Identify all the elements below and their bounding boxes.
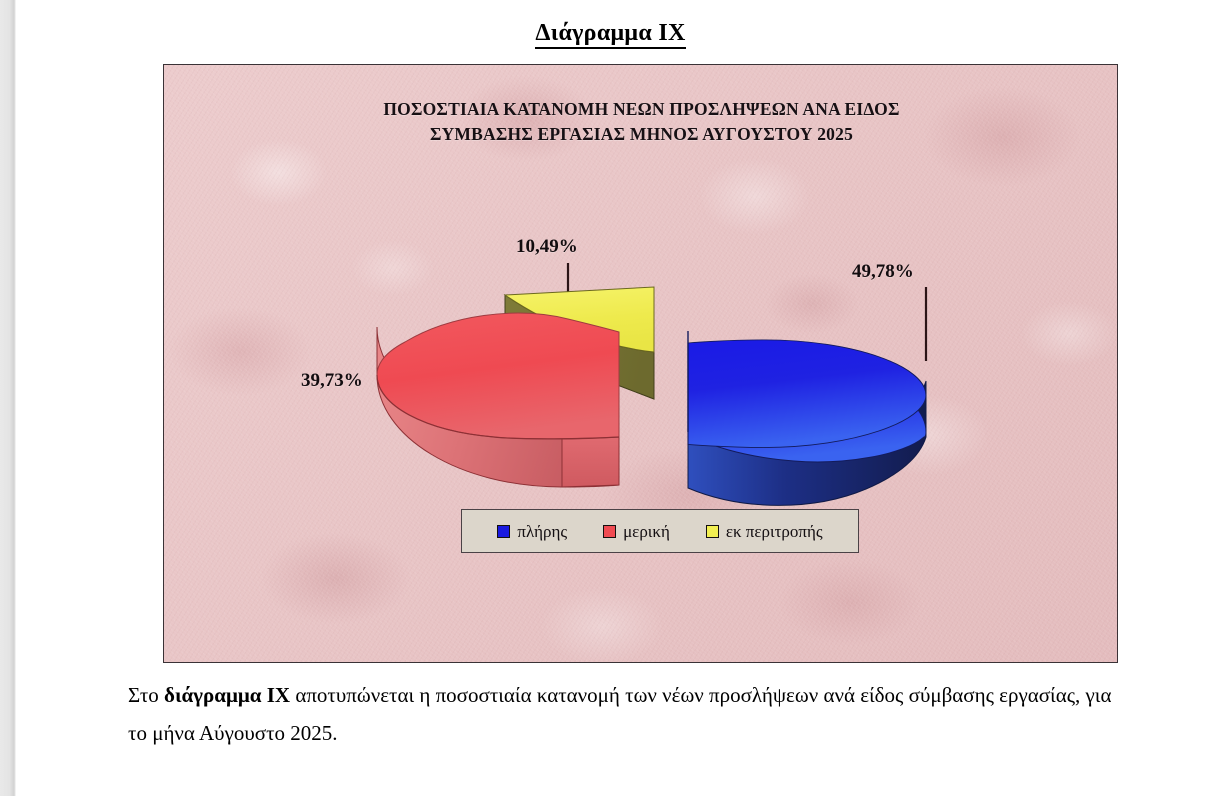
legend-label-plires: πλήρης xyxy=(517,523,567,540)
legend-item-ek-peritropis[interactable]: εκ περιτροπής xyxy=(706,523,823,540)
document-page: Διάγραμμα ΙΧ ΠΟΣΟΣΤΙΑΙΑ ΚΑΤΑΝΟΜΗ ΝΕΩΝ ΠΡ… xyxy=(16,0,1205,796)
page-title: Διάγραμμα ΙΧ xyxy=(16,20,1205,47)
data-label-yellow: 10,49% xyxy=(516,236,578,258)
pie-slice-red xyxy=(377,313,619,487)
page-title-text: Διάγραμμα ΙΧ xyxy=(535,20,685,49)
legend-label-ek-peritropis: εκ περιτροπής xyxy=(726,523,823,540)
pie-chart-3d xyxy=(164,65,1118,663)
pie-slice-blue xyxy=(688,331,926,505)
legend-item-plires[interactable]: πλήρης xyxy=(497,523,567,540)
page-gutter xyxy=(0,0,16,796)
paragraph-text-before: Στο xyxy=(128,683,164,707)
body-paragraph: Στο διάγραμμα ΙΧ αποτυπώνεται η ποσοστια… xyxy=(128,676,1128,752)
chart-legend: πλήρης μερική εκ περιτροπής xyxy=(461,509,859,553)
legend-swatch-blue xyxy=(497,525,510,538)
paragraph-text-bold: διάγραμμα ΙΧ xyxy=(164,683,290,707)
pie-slice-red-face-b xyxy=(562,437,619,487)
legend-label-meriki: μερική xyxy=(623,523,670,540)
chart-panel: ΠΟΣΟΣΤΙΑΙΑ ΚΑΤΑΝΟΜΗ ΝΕΩΝ ΠΡΟΣΛΗΨΕΩΝ ΑΝΑ … xyxy=(163,64,1118,663)
data-label-blue: 49,78% xyxy=(852,261,914,283)
legend-item-meriki[interactable]: μερική xyxy=(603,523,670,540)
data-label-red: 39,73% xyxy=(301,370,363,392)
legend-swatch-red xyxy=(603,525,616,538)
legend-swatch-yellow xyxy=(706,525,719,538)
